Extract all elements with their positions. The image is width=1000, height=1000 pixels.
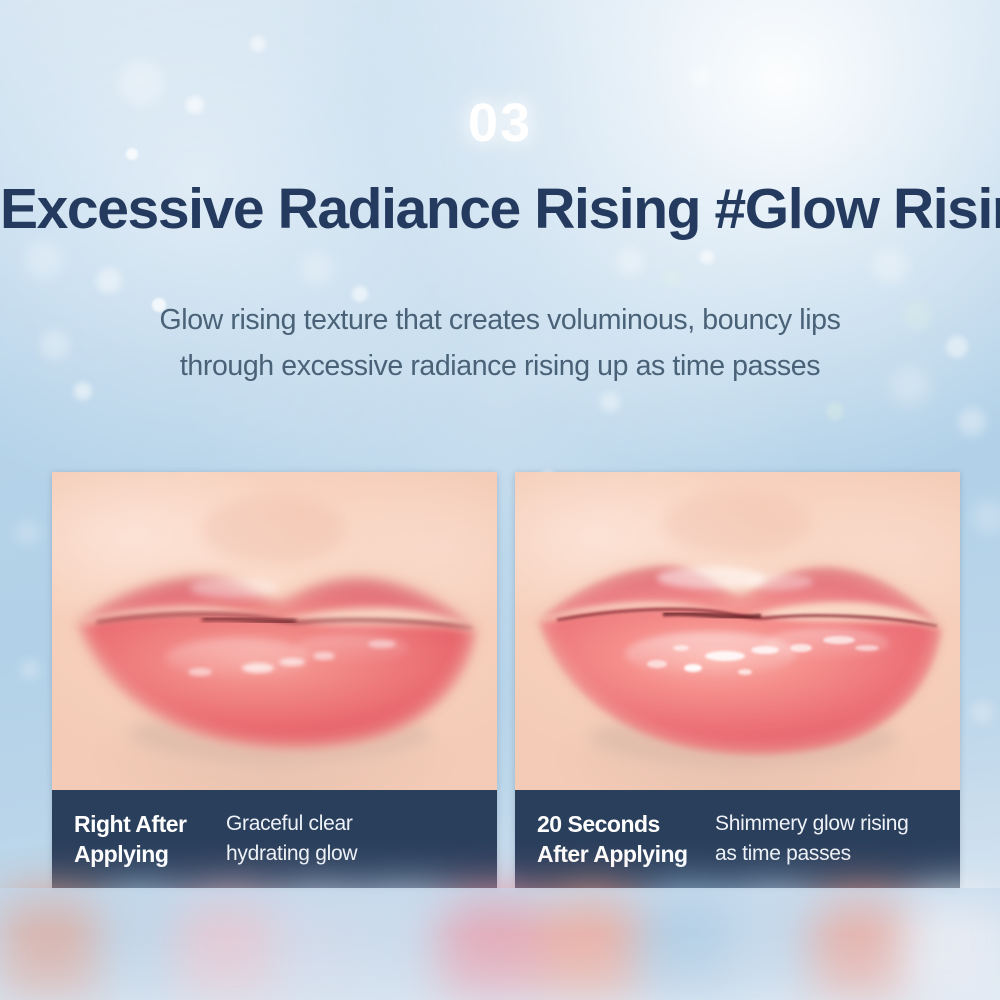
subtitle: Glow rising texture that creates volumin… bbox=[0, 297, 1000, 389]
subtitle-line-2: through excessive radiance rising up as … bbox=[0, 343, 1000, 389]
page-title: Excessive Radiance Rising #Glow Rising bbox=[0, 176, 1000, 242]
bokeh-dot bbox=[20, 660, 40, 680]
blurred-product-backdrop bbox=[0, 888, 1000, 1000]
lips-photo-right-after-applying bbox=[52, 472, 497, 790]
panel-caption-twenty-seconds-after-applying: 20 Seconds After Applying Shimmery glow … bbox=[515, 790, 960, 888]
blurred-product-shape bbox=[726, 888, 826, 1000]
bokeh-dot bbox=[24, 240, 64, 280]
caption-title-line-2: After Applying bbox=[537, 839, 715, 869]
caption-title-line-1: Right After bbox=[74, 809, 226, 839]
bokeh-dot bbox=[826, 402, 844, 420]
bokeh-dot bbox=[250, 36, 266, 52]
panel-caption-right-after-applying: Right After Applying Graceful clear hydr… bbox=[52, 790, 497, 888]
blurred-product-shape bbox=[540, 888, 644, 1000]
bokeh-dot bbox=[662, 268, 682, 288]
comparison-panel-twenty-seconds-after-applying[interactable]: 20 Seconds After Applying Shimmery glow … bbox=[515, 472, 960, 888]
caption-title: 20 Seconds After Applying bbox=[537, 809, 715, 869]
caption-description: Graceful clear hydrating glow bbox=[226, 809, 357, 869]
bokeh-dot bbox=[972, 500, 1000, 534]
caption-title: Right After Applying bbox=[74, 809, 226, 869]
bokeh-dot bbox=[300, 252, 334, 286]
blurred-product-shape bbox=[176, 888, 286, 1000]
bokeh-dot bbox=[600, 392, 620, 412]
bokeh-dot bbox=[616, 248, 644, 276]
blurred-product-shape bbox=[900, 888, 1000, 1000]
bokeh-dot bbox=[14, 520, 40, 546]
bokeh-dot bbox=[872, 248, 908, 284]
caption-desc-line-1: Shimmery glow rising bbox=[715, 809, 909, 839]
comparison-panel-right-after-applying[interactable]: Right After Applying Graceful clear hydr… bbox=[52, 472, 497, 888]
blurred-product-shape bbox=[440, 888, 550, 1000]
bokeh-dot bbox=[96, 268, 122, 294]
bokeh-dot bbox=[970, 700, 994, 724]
caption-desc-line-2: as time passes bbox=[715, 839, 909, 869]
bokeh-dot bbox=[958, 408, 986, 436]
caption-desc-line-2: hydrating glow bbox=[226, 839, 357, 869]
lips-photo-twenty-seconds-after-applying bbox=[515, 472, 960, 790]
caption-desc-line-1: Graceful clear bbox=[226, 809, 357, 839]
lips-illustration-shimmer-glow bbox=[515, 472, 960, 790]
blurred-product-shape bbox=[0, 888, 110, 1000]
promo-page: 03 Excessive Radiance Rising #Glow Risin… bbox=[0, 0, 1000, 1000]
step-number: 03 bbox=[0, 92, 1000, 154]
blurred-product-shape bbox=[96, 888, 186, 1000]
caption-title-line-2: Applying bbox=[74, 839, 226, 869]
subtitle-line-1: Glow rising texture that creates volumin… bbox=[0, 297, 1000, 343]
caption-title-line-1: 20 Seconds bbox=[537, 809, 715, 839]
bokeh-dot bbox=[700, 250, 714, 264]
bokeh-dot bbox=[690, 66, 712, 88]
lips-illustration-soft-glow bbox=[52, 472, 497, 790]
caption-description: Shimmery glow rising as time passes bbox=[715, 809, 909, 869]
comparison-panels: Right After Applying Graceful clear hydr… bbox=[52, 472, 960, 888]
